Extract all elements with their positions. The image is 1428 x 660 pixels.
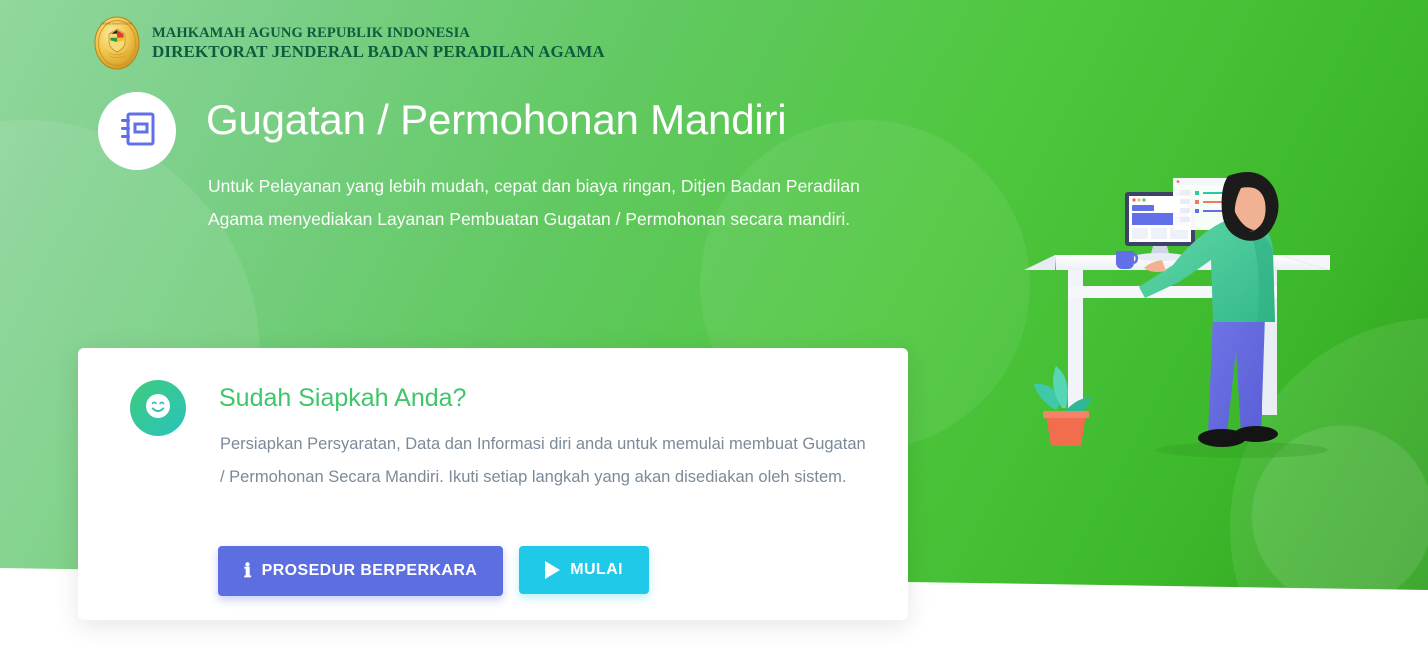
smiley-face-icon — [143, 391, 173, 426]
prosedur-berperkara-button[interactable]: ℹ PROSEDUR BERPERKARA — [218, 546, 503, 596]
floor-shadow — [1156, 442, 1328, 458]
card-title: Sudah Siapkah Anda? — [219, 384, 466, 413]
coffee-mug — [1116, 251, 1134, 269]
prosedur-berperkara-label: PROSEDUR BERPERKARA — [262, 562, 478, 580]
plant-pot — [1046, 416, 1086, 446]
mulai-label: MULAI — [570, 561, 623, 579]
hero-description: Untuk Pelayanan yang lebih mudah, cepat … — [208, 170, 888, 236]
hero-icon-badge — [98, 92, 176, 170]
branding-header: MAHKAMAH AGUNG MAHKAMAH AGUNG REPUBLIK I… — [94, 16, 605, 70]
mahkamah-agung-seal-icon: MAHKAMAH AGUNG — [94, 16, 140, 70]
play-icon — [545, 561, 560, 579]
card-actions: ℹ PROSEDUR BERPERKARA MULAI — [218, 546, 649, 596]
mulai-button[interactable]: MULAI — [519, 546, 649, 594]
card-icon-badge — [130, 380, 186, 436]
shoe-right — [1234, 426, 1278, 442]
person-legs — [1208, 316, 1265, 434]
person-at-standing-desk-illustration — [1010, 158, 1410, 488]
page-title: Gugatan / Permohonan Mandiri — [206, 96, 786, 144]
potted-plant — [1034, 366, 1092, 446]
address-book-icon — [117, 109, 157, 154]
branding-line-2: DIREKTORAT JENDERAL BADAN PERADILAN AGAM… — [152, 42, 605, 61]
page-root: MAHKAMAH AGUNG MAHKAMAH AGUNG REPUBLIK I… — [0, 0, 1428, 660]
branding-line-1: MAHKAMAH AGUNG REPUBLIK INDONESIA — [152, 25, 605, 41]
readiness-card: Sudah Siapkah Anda? Persiapkan Persyarat… — [78, 348, 908, 620]
info-icon: ℹ — [244, 562, 252, 581]
svg-text:MAHKAMAH AGUNG: MAHKAMAH AGUNG — [101, 22, 133, 26]
card-description: Persiapkan Persyaratan, Data dan Informa… — [220, 428, 870, 494]
